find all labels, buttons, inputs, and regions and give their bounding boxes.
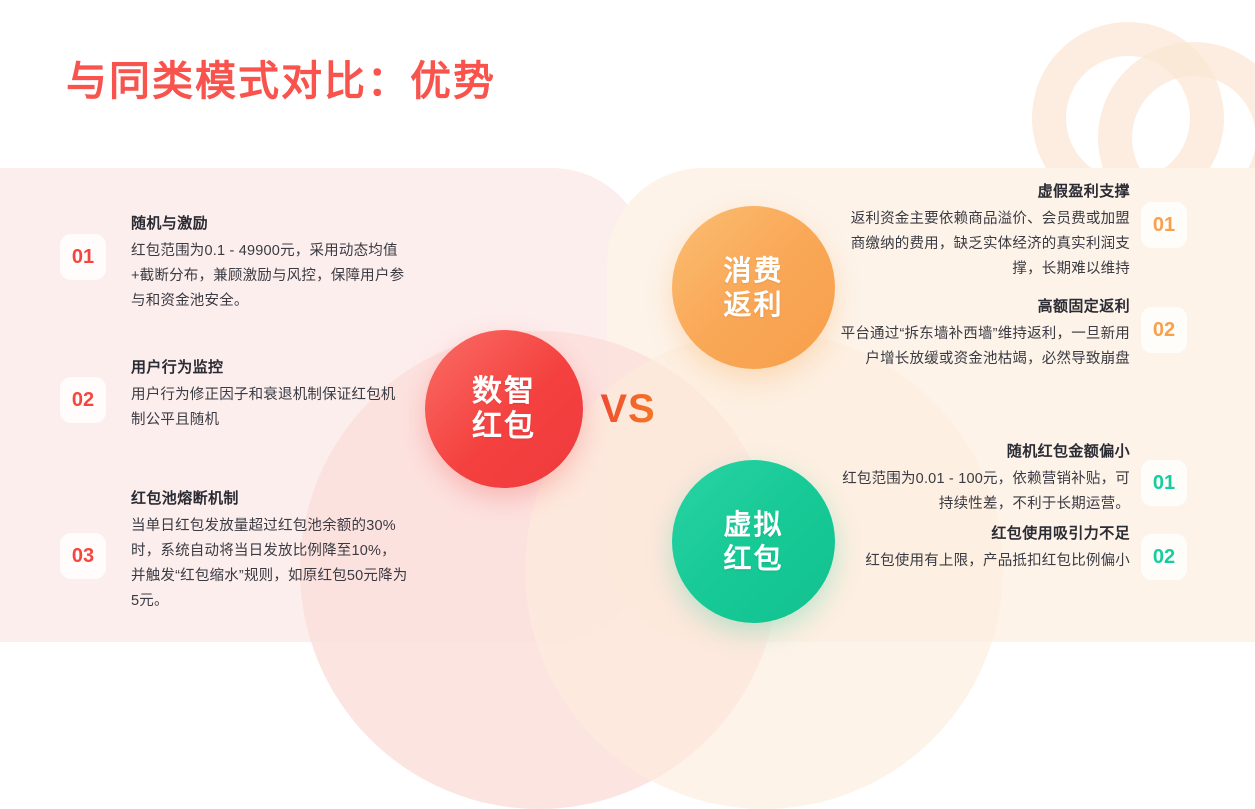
list-item-right-top-02: 高额固定返利 平台通过“拆东墙补西墙”维持返利，一旦新用户增长放缓或资金池枯竭，…: [840, 295, 1130, 372]
item-heading: 高额固定返利: [840, 295, 1130, 316]
list-item-left-01: 随机与激励 红包范围为0.1 - 49900元，采用动态均值+截断分布，兼顾激励…: [131, 212, 409, 314]
item-heading: 红包池熔断机制: [131, 487, 409, 508]
item-body: 红包使用有上限，产品抵扣红包比例偏小: [840, 549, 1130, 574]
item-body: 红包范围为0.1 - 49900元，采用动态均值+截断分布，兼顾激励与风控，保障…: [131, 239, 409, 314]
badge-right-top-02: 02: [1141, 307, 1187, 353]
badge-left-03: 03: [60, 533, 106, 579]
bubble-line-1: 虚拟: [723, 508, 783, 541]
bubble-line-2: 红包: [723, 542, 783, 575]
list-item-left-02: 用户行为监控 用户行为修正因子和衰退机制保证红包机制公平且随机: [131, 356, 409, 433]
vs-label: VS: [591, 387, 665, 432]
badge-left-02: 02: [60, 377, 106, 423]
badge-right-bottom-01: 01: [1141, 460, 1187, 506]
badge-number: 02: [1153, 546, 1175, 569]
bubble-line-1: 数智: [472, 374, 536, 409]
item-body: 返利资金主要依赖商品溢价、会员费或加盟商缴纳的费用，缺乏实体经济的真实利润支撑，…: [840, 207, 1130, 282]
bubble-xuni-hongbao[interactable]: 虚拟 红包: [672, 460, 835, 623]
badge-left-01: 01: [60, 234, 106, 280]
page-title: 与同类模式对比：优势: [66, 47, 496, 107]
list-item-right-bottom-02: 红包使用吸引力不足 红包使用有上限，产品抵扣红包比例偏小: [840, 522, 1130, 574]
list-item-right-bottom-01: 随机红包金额偏小 红包范围为0.01 - 100元，依赖营销补贴，可持续性差，不…: [840, 440, 1130, 517]
bubble-line-2: 返利: [723, 288, 783, 321]
list-item-right-top-01: 虚假盈利支撑 返利资金主要依赖商品溢价、会员费或加盟商缴纳的费用，缺乏实体经济的…: [840, 180, 1130, 282]
badge-right-top-01: 01: [1141, 202, 1187, 248]
bubble-line-1: 消费: [723, 254, 783, 287]
item-body: 用户行为修正因子和衰退机制保证红包机制公平且随机: [131, 383, 409, 433]
bubble-shuzhi-hongbao[interactable]: 数智 红包: [425, 330, 583, 488]
list-item-left-03: 红包池熔断机制 当单日红包发放量超过红包池余额的30%时，系统自动将当日发放比例…: [131, 487, 409, 614]
item-heading: 随机红包金额偏小: [840, 440, 1130, 461]
badge-number: 01: [1153, 214, 1175, 237]
item-heading: 随机与激励: [131, 212, 409, 233]
badge-number: 01: [1153, 472, 1175, 495]
badge-number: 02: [1153, 319, 1175, 342]
badge-right-bottom-02: 02: [1141, 534, 1187, 580]
badge-number: 03: [72, 545, 94, 568]
item-body: 红包范围为0.01 - 100元，依赖营销补贴，可持续性差，不利于长期运营。: [840, 467, 1130, 517]
decorative-rings-watermark: [1032, 22, 1232, 182]
item-heading: 虚假盈利支撑: [840, 180, 1130, 201]
bubble-xiaofei-fanli[interactable]: 消费 返利: [672, 206, 835, 369]
item-heading: 用户行为监控: [131, 356, 409, 377]
item-heading: 红包使用吸引力不足: [840, 522, 1130, 543]
item-body: 平台通过“拆东墙补西墙”维持返利，一旦新用户增长放缓或资金池枯竭，必然导致崩盘: [840, 322, 1130, 372]
badge-number: 01: [72, 246, 94, 269]
item-body: 当单日红包发放量超过红包池余额的30%时，系统自动将当日发放比例降至10%，并触…: [131, 514, 409, 614]
badge-number: 02: [72, 389, 94, 412]
bubble-line-2: 红包: [472, 409, 536, 444]
